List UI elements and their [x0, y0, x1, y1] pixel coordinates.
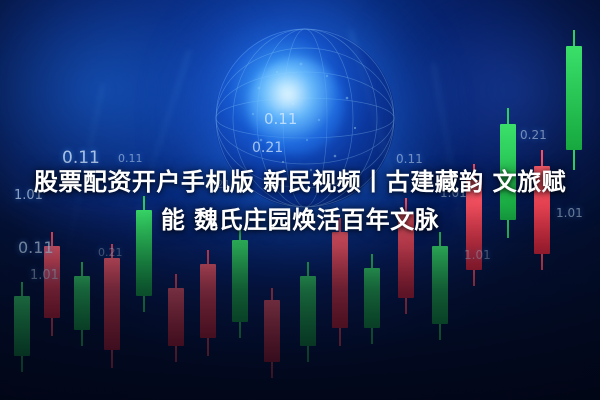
candlestick-body	[566, 46, 582, 150]
banner-image: 0.110.210.111.010.110.210.111.010.211.01…	[0, 0, 600, 400]
floating-number: 0.21	[520, 128, 547, 142]
floating-number: 0.11	[264, 110, 297, 128]
floating-number: 0.21	[252, 140, 283, 156]
headline: 股票配资开户手机版 新民视频丨古建藏韵 文旅赋 能 魏氏庄园焕活百年文脉	[0, 163, 600, 239]
headline-line-1: 股票配资开户手机版 新民视频丨古建藏韵 文旅赋	[6, 163, 594, 201]
headline-line-2: 能 魏氏庄园焕活百年文脉	[6, 201, 594, 239]
